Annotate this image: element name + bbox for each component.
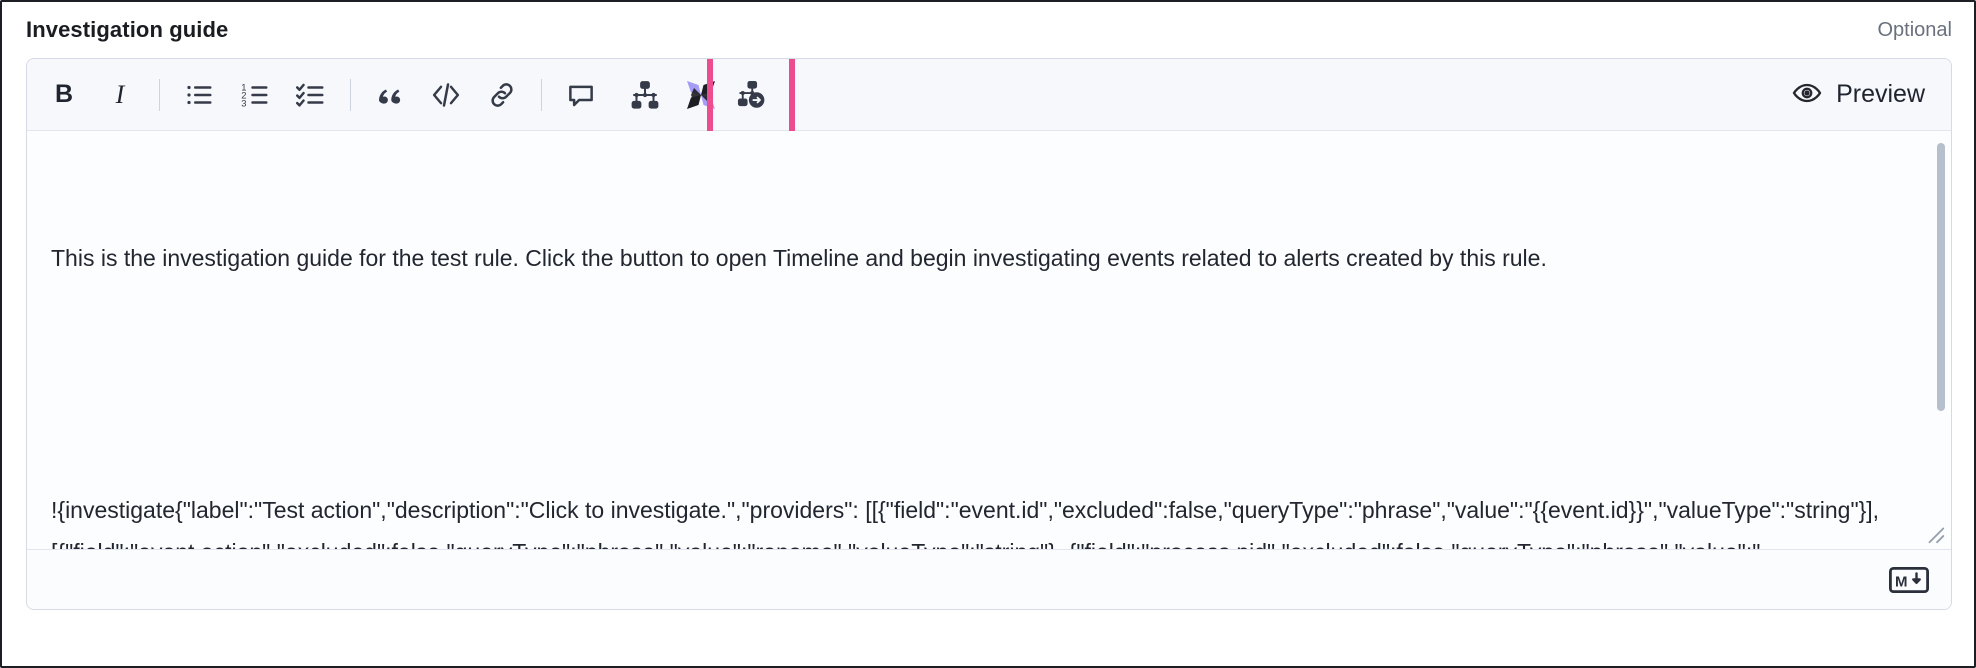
quote-button[interactable] <box>367 72 413 118</box>
task-list-icon <box>296 80 326 110</box>
unordered-list-button[interactable] <box>176 72 222 118</box>
preview-label: Preview <box>1836 82 1925 107</box>
task-list-button[interactable] <box>288 72 334 118</box>
elastic-logo-icon <box>685 79 717 111</box>
osquery-button[interactable] <box>678 72 724 118</box>
markdown-icon[interactable]: M <box>1889 567 1929 593</box>
link-icon <box>487 80 517 110</box>
investigate-timeline-icon <box>736 80 766 110</box>
editor-toolbar: B I <box>27 59 1951 131</box>
toolbar-divider-1 <box>159 79 160 111</box>
bold-button[interactable]: B <box>41 72 87 118</box>
timeline-icon <box>630 80 660 110</box>
timeline-button[interactable] <box>622 72 668 118</box>
editor-scrollbar-thumb[interactable] <box>1937 143 1945 411</box>
blank-line-1 <box>51 363 1903 405</box>
resize-handle[interactable] <box>1924 523 1946 545</box>
investigation-guide-panel: Investigation guide Optional B I <box>0 0 1976 668</box>
toolbar-divider-3 <box>541 79 542 111</box>
page-title: Investigation guide <box>26 19 228 41</box>
italic-button[interactable]: I <box>97 72 143 118</box>
investigate-button[interactable] <box>728 72 774 118</box>
editor-body: This is the investigation guide for the … <box>27 131 1951 549</box>
link-button[interactable] <box>479 72 525 118</box>
svg-text:M: M <box>1895 573 1908 590</box>
editor-scrollbar[interactable] <box>1937 139 1945 541</box>
investigate-button-highlight <box>728 72 774 118</box>
markdown-textarea[interactable]: This is the investigation guide for the … <box>27 131 1951 549</box>
paragraph-intro: This is the investigation guide for the … <box>51 237 1903 279</box>
markdown-editor: B I <box>26 58 1952 610</box>
code-block-button[interactable] <box>423 72 469 118</box>
comment-icon <box>566 80 596 110</box>
ordered-list-button[interactable]: 1 2 3 <box>232 72 278 118</box>
paragraph-investigate-json: !{investigate{"label":"Test action","des… <box>51 489 1903 549</box>
ordered-list-icon: 1 2 3 <box>240 80 270 110</box>
editor-footer: M <box>27 549 1951 609</box>
preview-button[interactable]: Preview <box>1784 74 1941 115</box>
eye-icon <box>1792 78 1822 111</box>
field-header: Investigation guide Optional <box>2 2 1974 58</box>
toolbar-divider-2 <box>350 79 351 111</box>
code-icon <box>431 80 461 110</box>
quote-icon <box>375 80 405 110</box>
svg-text:3: 3 <box>241 98 246 108</box>
unordered-list-icon <box>184 80 214 110</box>
tooltip-button[interactable] <box>558 72 604 118</box>
optional-label: Optional <box>1878 20 1953 40</box>
